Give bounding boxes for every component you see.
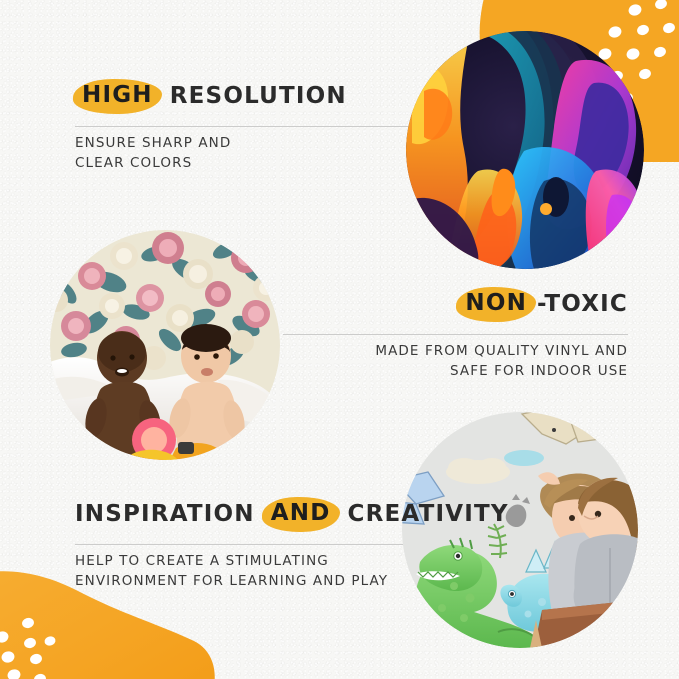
infographic-canvas: HIGH RESOLUTION ENSURE SHARP AND CLEAR C… xyxy=(0,0,679,679)
feature-title-highlight-non: NON xyxy=(458,290,534,318)
feature-title-pre-inspiration: INSPIRATION xyxy=(75,503,255,526)
feature-title-highlight-and: AND xyxy=(264,500,338,528)
feature-description-inspiration-and-creativity: HELP TO CREATE A STIMULATING ENVIRONMENT… xyxy=(75,552,475,591)
feature-title-inspiration-and-creativity: INSPIRATION AND CREATIVITY xyxy=(75,500,475,528)
feature-description-high-resolution: ENSURE SHARP AND CLEAR COLORS xyxy=(75,134,395,173)
feature-title-rest-resolution: RESOLUTION xyxy=(170,85,347,108)
feature-title-high-resolution: HIGH RESOLUTION xyxy=(75,82,395,110)
feature-title-highlight-high: HIGH xyxy=(75,82,160,110)
feature-high-resolution: HIGH RESOLUTION ENSURE SHARP AND CLEAR C… xyxy=(75,82,395,173)
feature-title-rest-creativity: CREATIVITY xyxy=(348,503,509,526)
photo-babies-floral-wallpaper[interactable] xyxy=(50,230,280,460)
feature-title-rest-toxic: -TOXIC xyxy=(537,293,628,316)
feature-non-toxic: NON -TOXIC MADE FROM QUALITY VINYL AND S… xyxy=(308,290,628,381)
feature-inspiration-and-creativity: INSPIRATION AND CREATIVITY HELP TO CREAT… xyxy=(75,500,475,591)
feature-description-non-toxic: MADE FROM QUALITY VINYL AND SAFE FOR IND… xyxy=(308,342,628,381)
photo-abstract-fluid-art[interactable] xyxy=(406,31,644,269)
feature-title-non-toxic: NON -TOXIC xyxy=(308,290,628,318)
